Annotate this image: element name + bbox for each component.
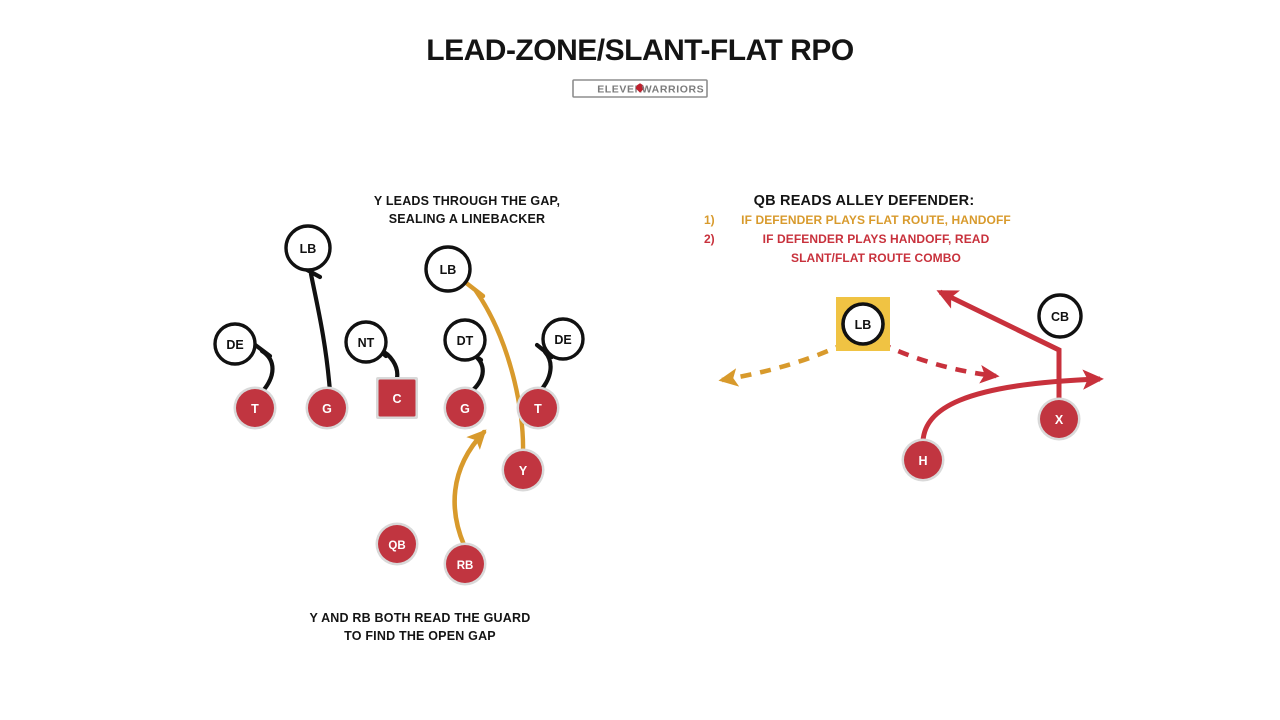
offense-h-label: H xyxy=(918,454,927,468)
defender-lde-label: DE xyxy=(226,338,243,352)
defender-dt-label: DT xyxy=(457,334,474,348)
offense-center[interactable]: C xyxy=(376,377,418,419)
route-rb-run xyxy=(455,432,484,545)
block-line-lg-lb xyxy=(300,266,330,392)
defender-alley-lb[interactable]: LB xyxy=(843,304,883,344)
defender-mlb[interactable]: LB xyxy=(426,247,470,291)
offense-x-label: X xyxy=(1055,413,1064,427)
defender-lde[interactable]: DE xyxy=(215,324,255,364)
offense-lg-label: G xyxy=(322,402,332,416)
defender-alley-lb-label: LB xyxy=(855,318,872,332)
offense-rg[interactable]: G xyxy=(444,387,487,430)
page-title: LEAD-ZONE/SLANT-FLAT RPO xyxy=(426,34,854,67)
offense-lg[interactable]: G xyxy=(306,387,349,430)
offense-qb[interactable]: QB xyxy=(376,523,419,566)
offense-center-label: C xyxy=(392,392,401,406)
offense-qb-label: QB xyxy=(388,540,405,552)
defender-rde[interactable]: DE xyxy=(543,319,583,359)
offense-y-label: Y xyxy=(519,464,528,478)
annotation-top-left-line1: Y LEADS THROUGH THE GAP, xyxy=(374,194,560,208)
annotation-top-left: Y LEADS THROUGH THE GAP, SEALING A LINEB… xyxy=(374,194,560,226)
eleven-warriors-logo: ELEVEN WARRIORS xyxy=(573,80,707,97)
annotation-bottom-left-line2: TO FIND THE OPEN GAP xyxy=(344,629,496,643)
offense-rg-label: G xyxy=(460,402,470,416)
offense-rt-label: T xyxy=(534,402,542,416)
offense-lt-label: T xyxy=(251,402,259,416)
offense-rt[interactable]: T xyxy=(517,387,560,430)
logo-left-text: ELEVEN xyxy=(597,84,643,96)
annotation-bottom-left-line1: Y AND RB BOTH READ THE GUARD xyxy=(310,611,531,625)
offense-h[interactable]: H xyxy=(902,439,945,482)
defender-mlb-label: LB xyxy=(440,263,457,277)
defender-nt-label: NT xyxy=(358,336,375,350)
annotation-top-left-line2: SEALING A LINEBACKER xyxy=(389,212,546,226)
defender-llb-label: LB xyxy=(300,242,317,256)
defender-dt[interactable]: DT xyxy=(445,320,485,360)
play-diagram-canvas: LEAD-ZONE/SLANT-FLAT RPO ELEVEN WARRIORS… xyxy=(0,0,1280,720)
offense-rb[interactable]: RB xyxy=(444,543,487,586)
offense-y[interactable]: Y xyxy=(502,449,545,492)
annotation-bottom-left: Y AND RB BOTH READ THE GUARD TO FIND THE… xyxy=(310,611,531,643)
defender-nt[interactable]: NT xyxy=(346,322,386,362)
defender-rde-label: DE xyxy=(554,333,571,347)
defender-cb-label: CB xyxy=(1051,310,1069,324)
block-line-lt-de xyxy=(254,344,273,392)
offense-x[interactable]: X xyxy=(1038,398,1081,441)
read-item-1-number: 1) xyxy=(704,213,715,227)
logo-right-text: WARRIORS xyxy=(642,84,705,96)
qb-read-heading: QB READS ALLEY DEFENDER: xyxy=(754,193,975,209)
defender-cb[interactable]: CB xyxy=(1039,295,1081,337)
route-alley-flat-read xyxy=(722,343,846,380)
offense-lt[interactable]: T xyxy=(234,387,277,430)
football-play-diagram: LEAD-ZONE/SLANT-FLAT RPO ELEVEN WARRIORS… xyxy=(0,0,1280,720)
defender-llb[interactable]: LB xyxy=(286,226,330,270)
annotation-right: QB READS ALLEY DEFENDER: 1) IF DEFENDER … xyxy=(704,193,1011,265)
route-alley-box-read xyxy=(880,343,996,376)
read-item-1-line1: IF DEFENDER PLAYS FLAT ROUTE, HANDOFF xyxy=(741,213,1011,227)
read-item-2-line2: SLANT/FLAT ROUTE COMBO xyxy=(791,251,961,265)
read-item-2-line1: IF DEFENDER PLAYS HANDOFF, READ xyxy=(763,232,990,246)
offense-rb-label: RB xyxy=(457,560,474,572)
read-item-2-number: 2) xyxy=(704,232,715,246)
